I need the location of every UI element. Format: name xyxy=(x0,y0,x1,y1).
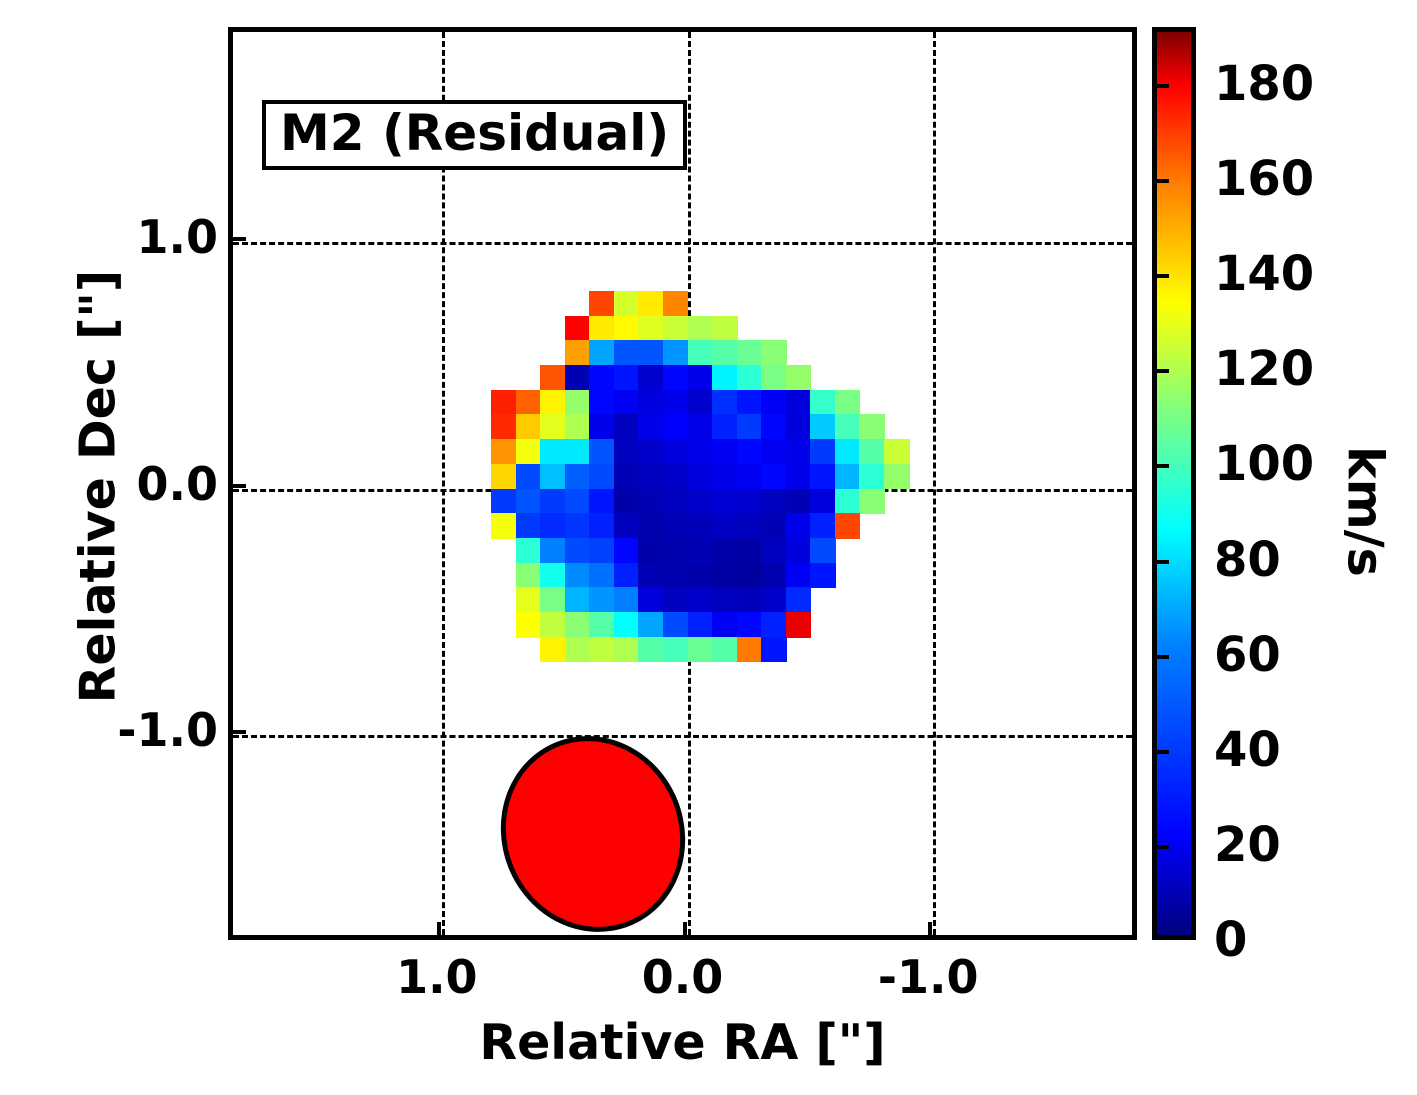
map-pixel xyxy=(761,612,787,638)
gridline-horizontal-0 xyxy=(233,242,1132,245)
map-pixel xyxy=(614,637,640,663)
x-tick-label-0: 1.0 xyxy=(396,950,478,1004)
map-pixel xyxy=(638,340,664,366)
map-pixel xyxy=(589,538,615,564)
map-pixel xyxy=(786,587,812,613)
map-pixel xyxy=(540,587,566,613)
map-pixel xyxy=(737,414,763,440)
map-pixel xyxy=(835,390,861,416)
map-pixel xyxy=(884,464,910,490)
map-pixel xyxy=(638,414,664,440)
map-pixel xyxy=(589,464,615,490)
map-pixel xyxy=(565,563,591,589)
colorbar-tick-mark-8 xyxy=(1152,845,1169,849)
map-pixel xyxy=(663,414,689,440)
map-pixel xyxy=(712,489,738,515)
map-pixel xyxy=(737,390,763,416)
map-pixel xyxy=(589,513,615,539)
map-pixel xyxy=(540,439,566,465)
map-pixel xyxy=(565,414,591,440)
map-pixel xyxy=(737,612,763,638)
map-pixel xyxy=(712,390,738,416)
map-pixel xyxy=(516,563,542,589)
map-pixel xyxy=(712,587,738,613)
map-pixel xyxy=(638,390,664,416)
map-pixel xyxy=(589,414,615,440)
map-pixel xyxy=(761,439,787,465)
gridline-horizontal-2 xyxy=(233,735,1132,738)
map-pixel xyxy=(516,489,542,515)
map-pixel xyxy=(540,390,566,416)
map-pixel xyxy=(835,489,861,515)
map-pixel xyxy=(859,464,885,490)
map-pixel xyxy=(540,414,566,440)
map-pixel xyxy=(540,365,566,391)
map-pixel xyxy=(737,563,763,589)
map-pixel xyxy=(589,439,615,465)
map-pixel xyxy=(835,439,861,465)
map-pixel xyxy=(638,587,664,613)
map-pixel xyxy=(638,464,664,490)
y-tick-mark-0 xyxy=(232,237,246,241)
map-pixel xyxy=(712,316,738,342)
map-pixel xyxy=(638,612,664,638)
map-pixel xyxy=(614,365,640,391)
map-pixel xyxy=(663,612,689,638)
y-tick-mark-2 xyxy=(232,730,246,734)
map-pixel xyxy=(565,637,591,663)
map-pixel xyxy=(614,439,640,465)
map-pixel xyxy=(614,489,640,515)
map-pixel xyxy=(688,414,714,440)
map-pixel xyxy=(688,464,714,490)
map-pixel xyxy=(614,291,640,317)
map-pixel xyxy=(638,563,664,589)
map-pixel xyxy=(614,563,640,589)
map-pixel xyxy=(663,439,689,465)
map-pixel xyxy=(810,513,836,539)
map-pixel xyxy=(614,340,640,366)
y-tick-mark-1 xyxy=(232,484,246,488)
colorbar-tick-mark-0 xyxy=(1152,84,1169,88)
colorbar-tick-label-5: 80 xyxy=(1214,532,1281,588)
map-pixel xyxy=(810,414,836,440)
map-pixel xyxy=(638,439,664,465)
map-pixel xyxy=(663,365,689,391)
map-pixel xyxy=(614,587,640,613)
map-pixel xyxy=(589,612,615,638)
map-pixel xyxy=(540,612,566,638)
map-pixel xyxy=(491,439,517,465)
map-pixel xyxy=(761,538,787,564)
map-pixel xyxy=(810,563,836,589)
x-tick-mark-2 xyxy=(928,922,932,936)
map-pixel xyxy=(516,464,542,490)
map-pixel xyxy=(516,587,542,613)
map-pixel xyxy=(516,513,542,539)
colorbar-tick-label-3: 120 xyxy=(1214,341,1314,397)
map-pixel xyxy=(565,340,591,366)
map-pixel xyxy=(589,390,615,416)
map-pixel xyxy=(737,439,763,465)
map-pixel xyxy=(589,587,615,613)
map-pixel xyxy=(663,538,689,564)
map-pixel xyxy=(638,489,664,515)
map-pixel xyxy=(688,489,714,515)
colorbar-tick-label-0: 180 xyxy=(1214,56,1314,112)
panel-title: M2 (Residual) xyxy=(262,100,687,170)
map-pixel xyxy=(810,489,836,515)
map-pixel xyxy=(638,291,664,317)
map-pixel xyxy=(737,513,763,539)
map-pixel xyxy=(859,439,885,465)
map-pixel xyxy=(810,390,836,416)
map-pixel xyxy=(761,464,787,490)
colorbar-label: km/s xyxy=(1337,302,1394,722)
map-pixel xyxy=(712,513,738,539)
x-tick-label-1: 0.0 xyxy=(642,950,724,1004)
map-pixel xyxy=(761,563,787,589)
map-pixel xyxy=(688,340,714,366)
map-pixel xyxy=(737,637,763,663)
map-pixel xyxy=(565,439,591,465)
map-pixel xyxy=(737,587,763,613)
map-pixel xyxy=(614,316,640,342)
map-pixel xyxy=(859,414,885,440)
map-pixel xyxy=(688,612,714,638)
map-pixel xyxy=(565,316,591,342)
map-pixel xyxy=(614,538,640,564)
map-pixel xyxy=(516,612,542,638)
colorbar-tick-label-6: 60 xyxy=(1214,627,1281,683)
map-pixel xyxy=(540,464,566,490)
colorbar-tick-label-4: 100 xyxy=(1214,436,1314,492)
map-pixel xyxy=(540,513,566,539)
map-pixel xyxy=(761,390,787,416)
map-pixel xyxy=(589,489,615,515)
map-pixel xyxy=(565,513,591,539)
colorbar-tick-mark-1 xyxy=(1152,179,1169,183)
map-pixel xyxy=(688,390,714,416)
map-pixel xyxy=(835,464,861,490)
map-pixel xyxy=(688,316,714,342)
map-pixel xyxy=(761,489,787,515)
map-pixel xyxy=(589,365,615,391)
beam-ellipse xyxy=(472,708,715,935)
map-pixel xyxy=(688,587,714,613)
map-pixel xyxy=(491,513,517,539)
map-pixel xyxy=(737,365,763,391)
colorbar xyxy=(1152,27,1196,940)
map-pixel xyxy=(589,340,615,366)
map-pixel xyxy=(786,538,812,564)
map-pixel xyxy=(786,513,812,539)
map-pixel xyxy=(712,538,738,564)
colorbar-tick-label-9: 0 xyxy=(1214,912,1247,968)
gridline-vertical-2 xyxy=(933,32,936,935)
map-pixel xyxy=(589,291,615,317)
map-pixel xyxy=(688,563,714,589)
map-pixel xyxy=(516,538,542,564)
y-axis-label: Relative Dec ["] xyxy=(70,137,127,837)
map-pixel xyxy=(761,340,787,366)
map-pixel xyxy=(491,414,517,440)
map-pixel xyxy=(663,563,689,589)
map-pixel xyxy=(516,414,542,440)
map-pixel xyxy=(614,612,640,638)
colorbar-tick-label-7: 40 xyxy=(1214,722,1281,778)
map-pixel xyxy=(712,414,738,440)
map-pixel xyxy=(786,414,812,440)
map-pixel xyxy=(786,390,812,416)
map-pixel xyxy=(516,439,542,465)
map-pixel xyxy=(663,464,689,490)
map-pixel xyxy=(786,612,812,638)
map-pixel xyxy=(688,439,714,465)
map-pixel xyxy=(491,489,517,515)
map-pixel xyxy=(810,464,836,490)
map-pixel xyxy=(761,365,787,391)
map-pixel xyxy=(614,464,640,490)
map-pixel xyxy=(712,365,738,391)
map-pixel xyxy=(565,464,591,490)
colorbar-tick-label-2: 140 xyxy=(1214,246,1314,302)
map-pixel xyxy=(712,439,738,465)
map-pixel xyxy=(540,637,566,663)
map-pixel xyxy=(638,365,664,391)
map-pixel xyxy=(786,489,812,515)
map-pixel xyxy=(663,637,689,663)
colorbar-tick-label-8: 20 xyxy=(1214,817,1281,873)
map-pixel xyxy=(589,563,615,589)
map-pixel xyxy=(565,587,591,613)
map-pixel xyxy=(614,414,640,440)
map-pixel xyxy=(565,489,591,515)
map-pixel xyxy=(761,513,787,539)
map-pixel xyxy=(712,637,738,663)
colorbar-tick-mark-4 xyxy=(1152,464,1169,468)
x-tick-mark-1 xyxy=(683,922,687,936)
map-pixel xyxy=(884,439,910,465)
map-pixel xyxy=(688,513,714,539)
map-pixel xyxy=(589,637,615,663)
map-pixel xyxy=(712,563,738,589)
map-pixel xyxy=(663,340,689,366)
map-pixel xyxy=(540,563,566,589)
map-pixel xyxy=(810,439,836,465)
map-pixel xyxy=(688,365,714,391)
map-pixel xyxy=(663,390,689,416)
map-pixel xyxy=(835,414,861,440)
map-pixel xyxy=(737,340,763,366)
map-pixel xyxy=(712,612,738,638)
map-pixel xyxy=(589,316,615,342)
map-pixel xyxy=(565,365,591,391)
map-pixel xyxy=(786,439,812,465)
map-pixel xyxy=(663,316,689,342)
map-pixel xyxy=(835,513,861,539)
map-pixel xyxy=(688,637,714,663)
colorbar-tick-mark-6 xyxy=(1152,655,1169,659)
map-pixel xyxy=(761,637,787,663)
map-pixel xyxy=(565,612,591,638)
map-pixel xyxy=(614,390,640,416)
map-pixel xyxy=(663,291,689,317)
x-tick-mark-0 xyxy=(437,922,441,936)
map-pixel xyxy=(737,489,763,515)
map-pixel xyxy=(712,464,738,490)
map-pixel xyxy=(638,513,664,539)
map-pixel xyxy=(540,538,566,564)
map-pixel xyxy=(712,340,738,366)
map-pixel xyxy=(540,489,566,515)
map-pixel xyxy=(638,637,664,663)
colorbar-tick-mark-5 xyxy=(1152,560,1169,564)
map-pixel xyxy=(565,538,591,564)
map-pixel xyxy=(737,464,763,490)
map-pixel xyxy=(516,390,542,416)
map-pixel xyxy=(663,587,689,613)
map-pixel xyxy=(786,563,812,589)
map-pixel xyxy=(638,538,664,564)
map-pixel xyxy=(638,316,664,342)
map-pixel xyxy=(761,414,787,440)
map-pixel xyxy=(491,464,517,490)
map-pixel xyxy=(786,464,812,490)
map-pixel xyxy=(663,513,689,539)
map-pixel xyxy=(810,538,836,564)
map-pixel xyxy=(859,489,885,515)
map-pixel xyxy=(614,513,640,539)
colorbar-tick-mark-2 xyxy=(1152,274,1169,278)
x-tick-label-2: -1.0 xyxy=(878,950,979,1004)
map-pixel xyxy=(786,365,812,391)
x-axis-label: Relative RA ["] xyxy=(228,1014,1137,1071)
map-pixel xyxy=(688,538,714,564)
colorbar-tick-mark-7 xyxy=(1152,750,1169,754)
colorbar-tick-mark-3 xyxy=(1152,369,1169,373)
map-pixel xyxy=(491,390,517,416)
map-pixel xyxy=(761,587,787,613)
map-pixel xyxy=(737,538,763,564)
map-pixel xyxy=(565,390,591,416)
colorbar-tick-label-1: 160 xyxy=(1214,151,1314,207)
map-pixel xyxy=(663,489,689,515)
